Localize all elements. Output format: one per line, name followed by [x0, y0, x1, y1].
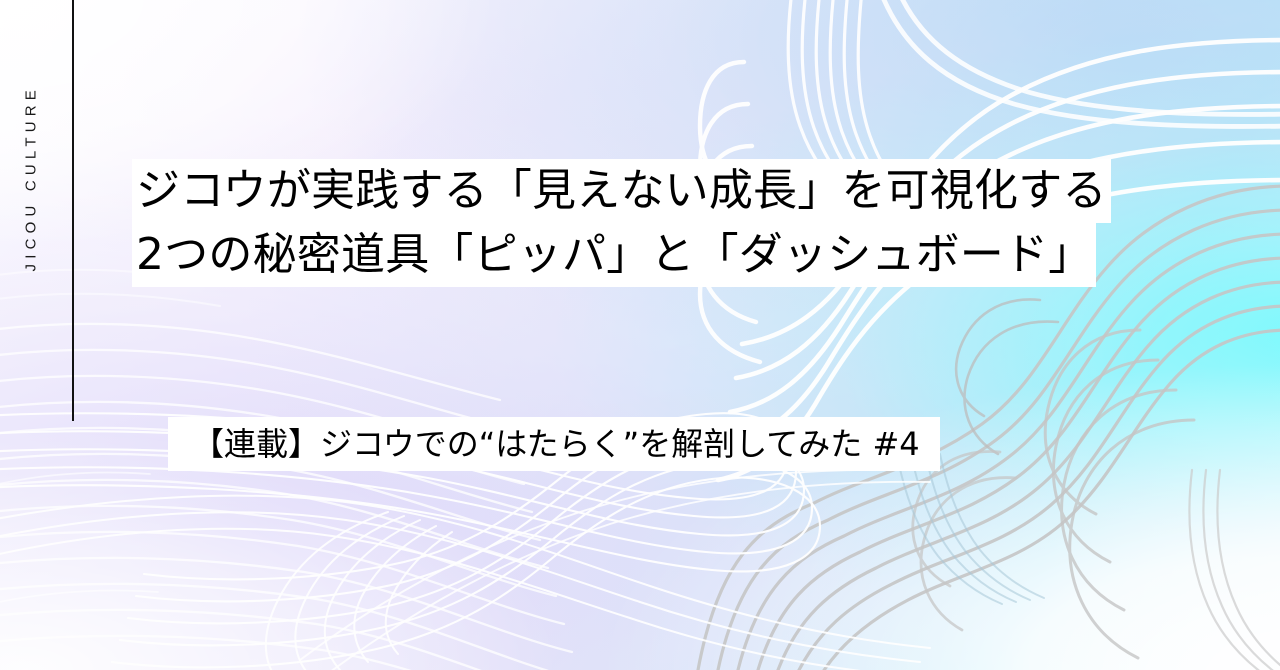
title-line-1: ジコウが実践する「見えない成長」を可視化する	[132, 159, 1111, 223]
flowing-lines-decoration	[0, 0, 1280, 670]
background-highlight-bottom-left	[0, 0, 1280, 670]
series-subtitle: 【連載】ジコウでの“はたらく”を解剖してみた #4	[168, 417, 940, 471]
subtitle-text: 【連載】ジコウでの“はたらく”を解剖してみた #4	[168, 417, 940, 471]
brand-divider-rule	[72, 0, 74, 421]
article-hero-banner: JICOU CULTURE ジコウが実践する「見えない成長」を可視化する 2つの…	[0, 0, 1280, 670]
background-highlight-bottom-right	[0, 0, 1280, 670]
background-highlight-top-left	[0, 0, 1280, 670]
title-line-2: 2つの秘密道具「ピッパ」と「ダッシュボード」	[132, 223, 1096, 287]
page-title: ジコウが実践する「見えない成長」を可視化する 2つの秘密道具「ピッパ」と「ダッシ…	[132, 159, 1111, 287]
brand-label: JICOU CULTURE	[23, 42, 40, 272]
background-gradient	[0, 0, 1280, 670]
